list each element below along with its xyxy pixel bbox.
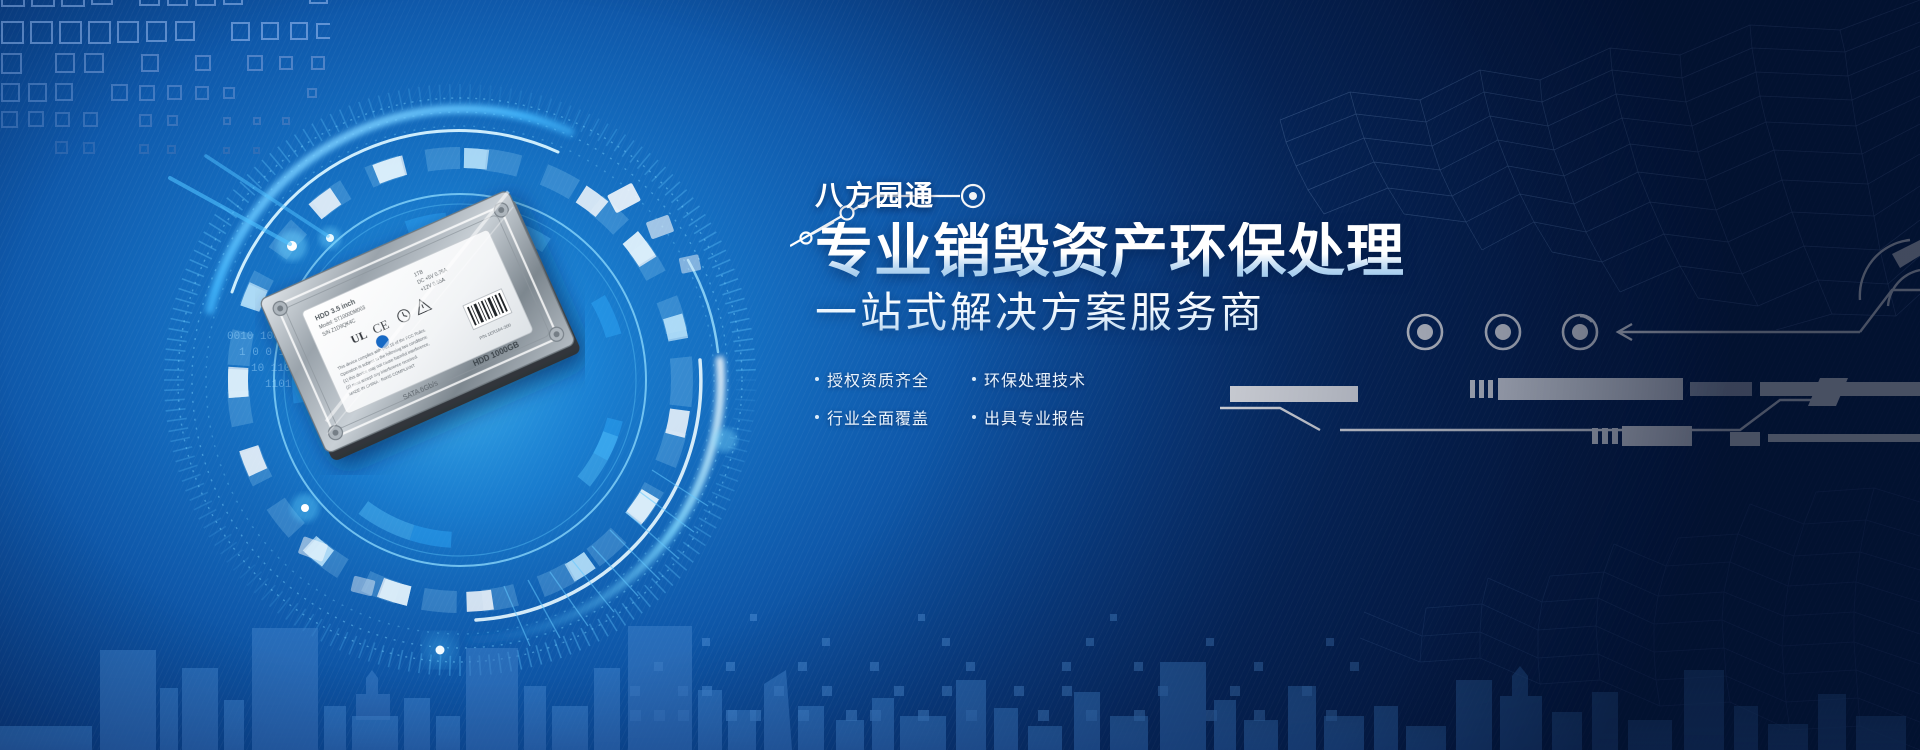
sub-headline: 一站式解决方案服务商 <box>815 289 1535 337</box>
feature-item: 环保处理技术 <box>972 367 1107 391</box>
bullet-icon <box>972 415 976 419</box>
bullet-icon <box>815 415 819 419</box>
hard-disk-drive-image: HDD 3.5 inch Model: ST1000DM003 S/N Z1D9… <box>255 175 585 475</box>
feature-item: 行业全面覆盖 <box>815 405 950 429</box>
feature-label: 环保处理技术 <box>984 367 1086 391</box>
feature-item: 授权资质齐全 <box>815 367 950 391</box>
feature-label: 行业全面覆盖 <box>827 405 929 429</box>
headline-text-block: 八方园通 专业销毁资产环保处理 一站式解决方案服务商 授权资质齐全 环保处理技术… <box>815 182 1535 429</box>
promotional-banner: 0010 1001 0010 1001 1001 1 0 0 1011 0011… <box>0 0 1920 750</box>
bullet-icon <box>815 377 819 381</box>
bullet-icon <box>972 377 976 381</box>
brand-name: 八方园通 <box>815 182 1535 210</box>
city-skyline-silhouette <box>0 520 1920 750</box>
feature-label: 授权资质齐全 <box>827 367 929 391</box>
main-headline: 专业销毁资产环保处理 <box>815 222 1535 283</box>
feature-label: 出具专业报告 <box>984 405 1086 429</box>
feature-list: 授权资质齐全 环保处理技术 行业全面覆盖 出具专业报告 <box>815 367 1535 429</box>
feature-item: 出具专业报告 <box>972 405 1107 429</box>
